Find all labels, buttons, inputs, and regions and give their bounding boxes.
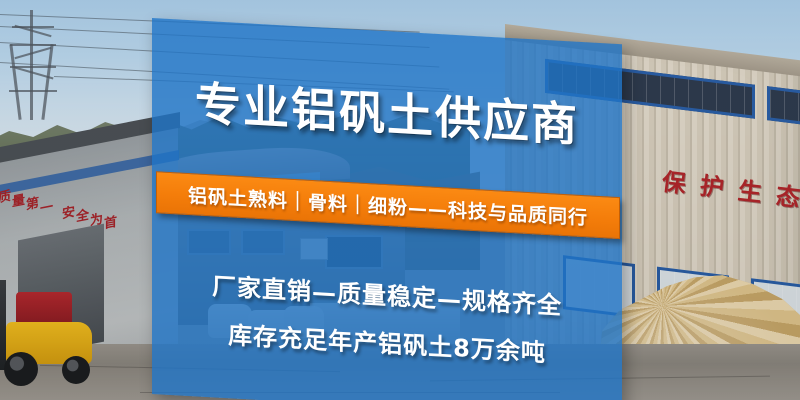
panel-inner	[152, 18, 622, 400]
forklift-cab	[16, 292, 72, 326]
right-building-sign-char-2: 护	[699, 174, 726, 201]
forklift-wheel	[4, 352, 38, 386]
left-building-sign-char-2: 量	[12, 189, 25, 211]
left-building-sign-char-4: 一	[40, 196, 53, 218]
left-building-sign-char-3: 第	[26, 192, 39, 214]
left-building-sign-char-1: 质	[0, 185, 11, 207]
forklift-wheel	[62, 356, 90, 384]
power-transmission-tower-icon	[8, 10, 56, 120]
left-building-sign-char-6: 全	[76, 204, 89, 226]
left-building-sign-char-8: 首	[104, 211, 117, 233]
banner-image: 保 护 生 态 质 量 第 一 安 全 为 首	[0, 0, 800, 400]
right-building-sign-char-1: 保	[661, 170, 688, 197]
blue-overlay-panel	[152, 18, 622, 400]
right-building-sign-char-4: 态	[775, 184, 800, 211]
left-building-sign-char-7: 为	[90, 208, 103, 230]
left-building-sign-char-5: 安	[62, 201, 75, 223]
right-building-sign-char-3: 生	[737, 179, 764, 206]
clerestory-window	[767, 86, 800, 125]
